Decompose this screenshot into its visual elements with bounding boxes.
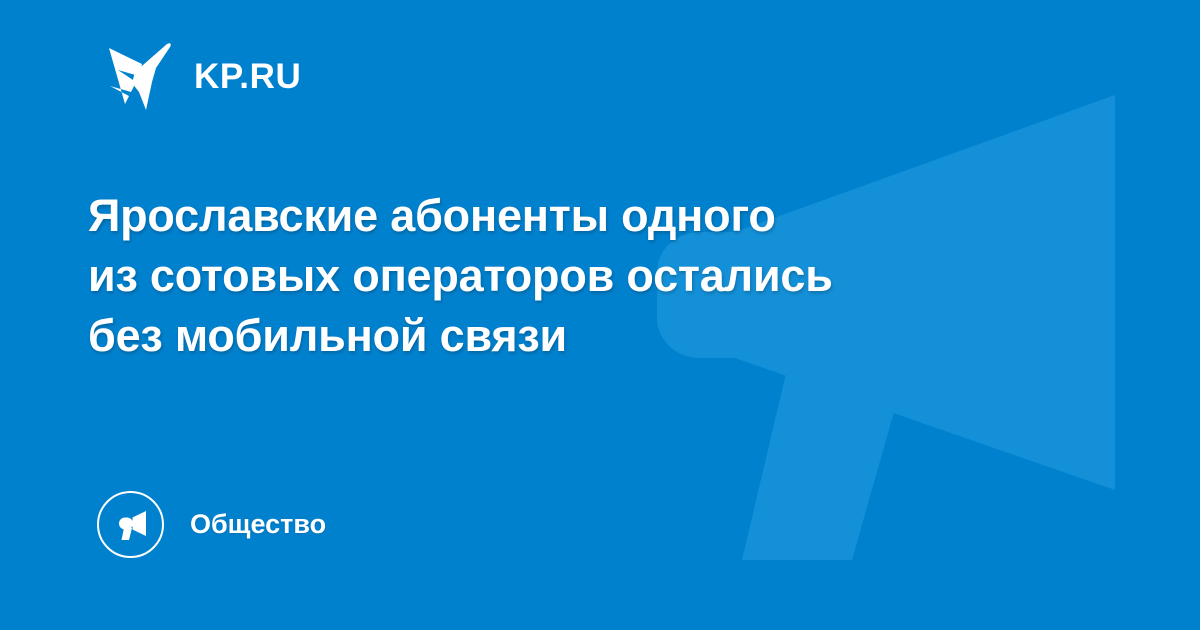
category-badge[interactable]: Общество: [97, 491, 326, 558]
page-title: Ярославские абоненты одного из сотовых о…: [88, 186, 1048, 366]
swallow-bird-icon: [108, 42, 172, 110]
social-share-card: KP.RU Ярославские абоненты одного из сот…: [0, 0, 1200, 630]
brand-logo[interactable]: KP.RU: [108, 42, 301, 110]
headline-line-3: без мобильной связи: [88, 306, 1048, 366]
brand-name: KP.RU: [194, 59, 301, 94]
headline-line-2: из сотовых операторов остались: [88, 246, 1048, 306]
headline-line-1: Ярославские абоненты одного: [88, 186, 1048, 246]
category-label: Общество: [190, 511, 326, 538]
megaphone-icon: [97, 491, 164, 558]
